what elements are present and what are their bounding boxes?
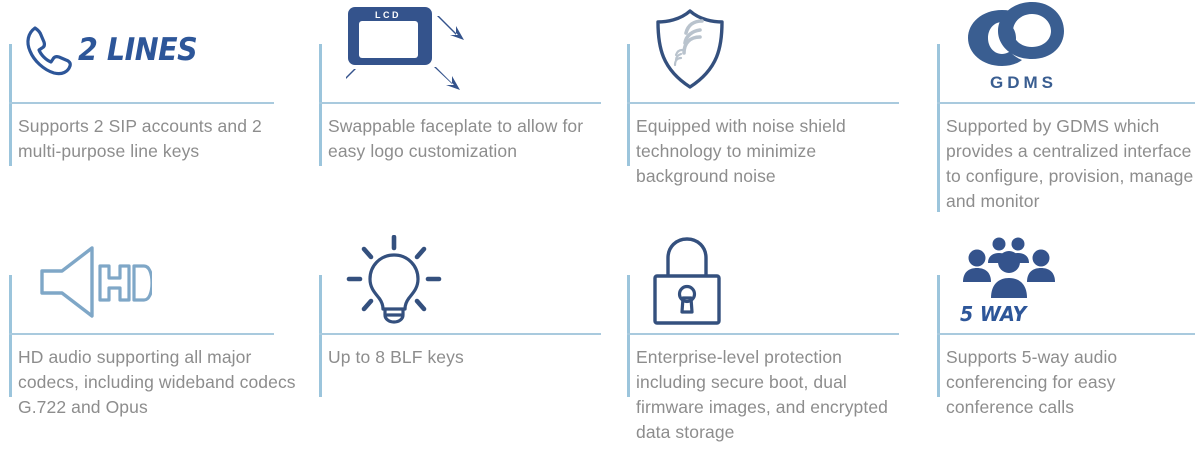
feature-cell-noise-shield: Equipped with noise shield technology to… [618,0,928,231]
feature-caption: Enterprise-level protection including se… [636,345,904,445]
cell-vertical-rule [319,44,322,166]
feature-caption: Supported by GDMS which provides a centr… [946,114,1194,214]
cell-horizontal-rule [319,333,601,335]
feature-icon-wrap [36,231,152,331]
people-group-5-way-icon [960,236,1060,302]
cell-vertical-rule [319,275,322,397]
cell-horizontal-rule [937,102,1195,104]
padlock-icon [650,236,724,326]
phone-handset-icon [22,20,74,80]
feature-icon-wrap [650,231,724,331]
cell-horizontal-rule [9,102,274,104]
lightbulb-icon [346,235,442,327]
feature-cell-gdms-support: GDMS Supported by GDMS which provides a … [928,0,1200,231]
feature-cell-swappable-faceplate: LCD Swappable faceplate to allow for eas… [310,0,618,231]
feature-cell-two-lines: 2 LINES Supports 2 SIP accounts and 2 mu… [0,0,310,231]
feature-icon-wrap [346,231,442,331]
feature-caption: Supports 5-way audio conferencing for ea… [946,345,1194,420]
cell-vertical-rule [9,44,12,166]
feature-icon-label: 2 LINES [78,32,197,68]
feature-icon-wrap: 2 LINES [22,0,208,100]
cell-vertical-rule [627,275,630,397]
feature-grid: 2 LINES Supports 2 SIP accounts and 2 mu… [0,0,1200,462]
cell-horizontal-rule [9,333,274,335]
feature-icon-wrap: LCD [346,0,468,100]
cell-vertical-rule [937,44,940,212]
feature-cell-security: Enterprise-level protection including se… [618,231,928,462]
feature-cell-blf-keys: Up to 8 BLF keys [310,231,618,462]
feature-caption: HD audio supporting all major codecs, in… [18,345,300,420]
feature-caption: Up to 8 BLF keys [328,345,600,370]
gdms-wordmark: GDMS [990,73,1057,92]
five-way-label: 5 WAY [960,302,1026,326]
cell-vertical-rule [9,275,12,397]
lcd-screen-label: LCD [375,10,401,20]
cell-horizontal-rule [627,333,899,335]
gdms-logo-icon: GDMS [960,0,1070,92]
cell-horizontal-rule [937,333,1195,335]
feature-cell-five-way-conference: 5 WAY Supports 5-way audio conferencing … [928,231,1200,462]
cell-horizontal-rule [627,102,899,104]
cell-horizontal-rule [319,102,601,104]
feature-icon-wrap: GDMS [960,0,1070,94]
cell-vertical-rule [937,275,940,397]
lcd-faceplate-arrows-icon: LCD [346,4,468,96]
feature-icon-wrap: 5 WAY [960,231,1060,331]
feature-cell-hd-audio: HD audio supporting all major codecs, in… [0,231,310,462]
shield-noise-waves-icon [650,7,730,93]
feature-caption: Supports 2 SIP accounts and 2 multi-purp… [18,114,300,164]
feature-caption: Swappable faceplate to allow for easy lo… [328,114,600,164]
cell-vertical-rule [627,44,630,166]
feature-icon-wrap [650,0,730,100]
feature-caption: Equipped with noise shield technology to… [636,114,904,189]
speaker-hd-icon [36,238,152,324]
